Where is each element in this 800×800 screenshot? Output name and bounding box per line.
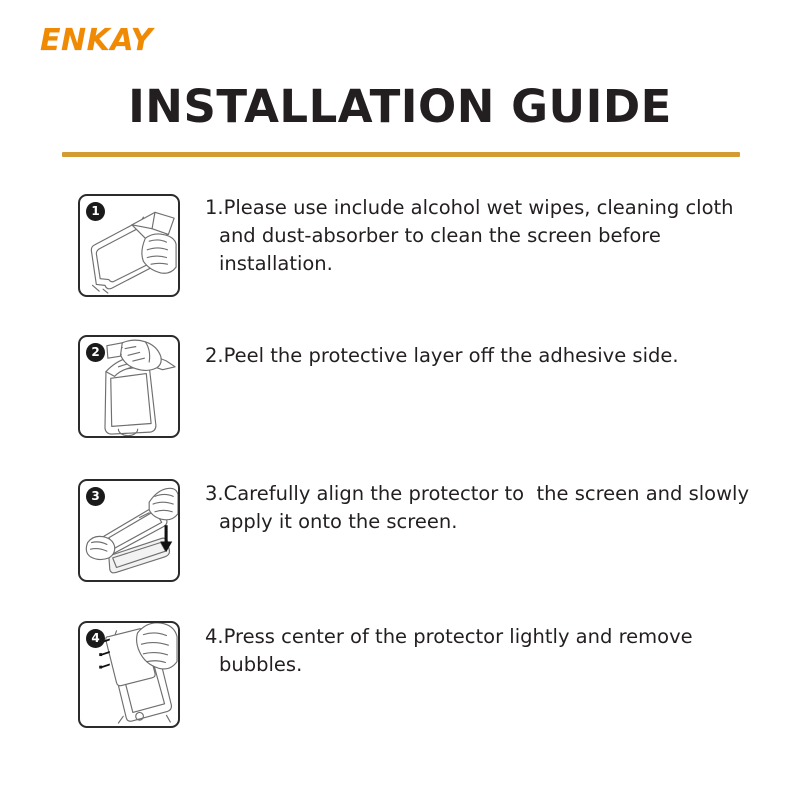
page-title: INSTALLATION GUIDE [0, 84, 800, 129]
step-text-1: 1.Please use include alcohol wet wipes, … [205, 194, 764, 278]
step-text-2: 2.Peel the protective layer off the adhe… [205, 342, 764, 370]
brand-logo: ENKAY [40, 26, 153, 56]
step-badge-1: 1 [86, 202, 105, 221]
step-figure-4: 4 [78, 621, 180, 728]
step-badge-4: 4 [86, 629, 105, 648]
step-figure-3: 3 [78, 479, 180, 582]
list-item: 4 4.Press center of the protector lightl… [0, 617, 800, 760]
title-divider [62, 152, 740, 157]
step-figure-1: 1 [78, 194, 180, 297]
steps-list: 1 1.Please use include alcohol wet wipes… [0, 188, 800, 760]
step-text-3: 3.Carefully align the protector to the s… [205, 480, 764, 536]
step-badge-2: 2 [86, 343, 105, 362]
step-badge-3: 3 [86, 487, 105, 506]
list-item: 3 3.Carefully align the protector to the… [0, 474, 800, 617]
list-item: 1 1.Please use include alcohol wet wipes… [0, 188, 800, 331]
step-text-4: 4.Press center of the protector lightly … [205, 623, 764, 679]
list-item: 2 2.Peel the protective layer off the ad… [0, 331, 800, 474]
step-figure-2: 2 [78, 335, 180, 438]
